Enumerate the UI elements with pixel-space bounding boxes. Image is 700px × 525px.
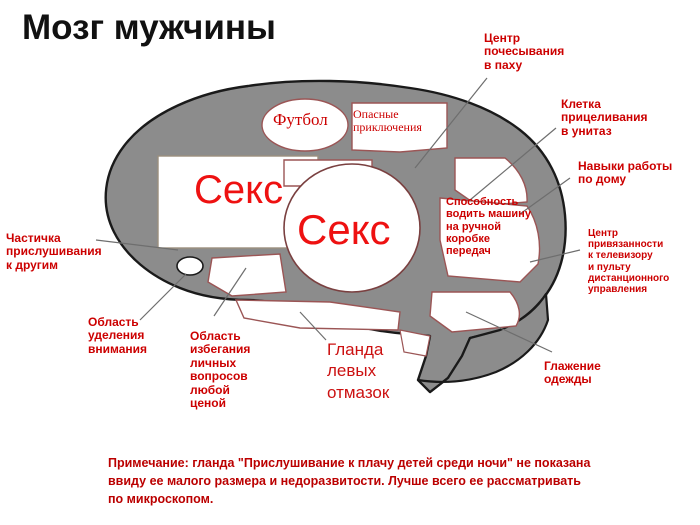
callout-ironing-clothes: Глажение одежды <box>544 360 601 387</box>
callout-toilet-aiming-cell: Клетка прицеливания в унитаз <box>561 98 648 138</box>
callout-avoiding-personal-questions-area: Область избегания личных вопросов любой … <box>190 330 250 411</box>
callout-paying-attention-area: Область уделения внимания <box>88 316 147 356</box>
callout-tv-remote-attachment-center: Центр привязанности к телевизору и пульт… <box>588 228 669 295</box>
region-label-sex-left: Секс <box>194 168 283 213</box>
callout-housework-skills: Навыки работы по дому <box>578 160 672 187</box>
region-label-manual-gearbox: Способность водить машину на ручной коро… <box>446 196 531 258</box>
region-label-sex-center: Секс <box>297 206 391 254</box>
callout-listening-to-others-particle: Частичка прислушивания к другим <box>6 232 102 272</box>
footnote-text: Примечание: гланда "Прислушивание к плач… <box>108 455 688 508</box>
region-lower-right-pocket <box>430 292 519 332</box>
region-label-football: Футбол <box>273 110 328 130</box>
callout-groin-scratching-center: Центр почесывания в паху <box>484 32 564 72</box>
region-label-dangerous-adventures: Опасные приключения <box>353 108 422 135</box>
region-label-gland-excuses: Гланда левых отмазок <box>327 339 389 403</box>
infographic-canvas: Мозг мужчины <box>0 0 700 525</box>
region-listening-particle <box>177 257 203 275</box>
